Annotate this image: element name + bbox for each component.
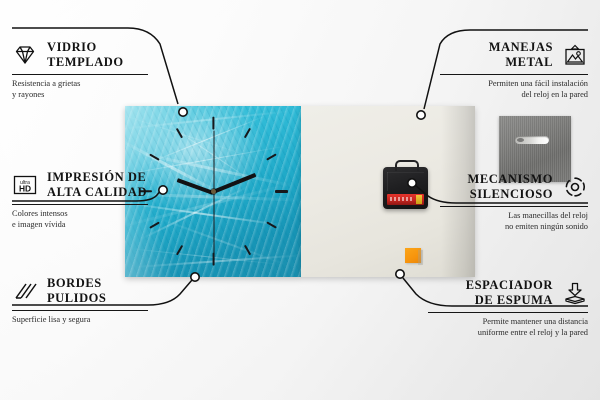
- callout-description: Colores intensos e imagen vívida: [12, 208, 148, 232]
- callout-bordes-pulidos[interactable]: BORDES PULIDOS Superficie lisa y segura: [12, 276, 148, 325]
- callout-title: BORDES PULIDOS: [47, 276, 106, 306]
- diamond-icon: [12, 43, 38, 67]
- callouts-layer: VIDRIO TEMPLADO Resistencia a grietas y …: [0, 0, 600, 400]
- callout-vidrio-templado[interactable]: VIDRIO TEMPLADO Resistencia a grietas y …: [12, 40, 148, 101]
- callout-mecanismo-silencioso[interactable]: MECANISMO SILENCIOSO Las: [440, 172, 588, 233]
- callout-manejas-metal[interactable]: MANEJAS METAL Permiten una fácil instala…: [440, 40, 588, 101]
- callout-description: Superficie lisa y segura: [12, 314, 148, 326]
- polished-edges-icon: [12, 279, 38, 303]
- callout-impresion-alta-calidad[interactable]: ultra HD IMPRESIÓN DE ALTA CALIDAD Color…: [12, 170, 148, 231]
- callout-description: Resistencia a grietas y rayones: [12, 78, 148, 102]
- ultra-hd-icon: ultra HD: [12, 173, 38, 197]
- callout-espaciador-espuma[interactable]: ESPACIADOR DE ESPUMA Permite mantener un…: [428, 278, 588, 339]
- callout-description: Las manecillas del reloj no emiten ningú…: [440, 210, 588, 234]
- wall-frame-hook-icon: [562, 43, 588, 67]
- callout-description: Permiten una fácil instalación del reloj…: [440, 78, 588, 102]
- callout-rule: [12, 310, 148, 311]
- callout-title: MECANISMO SILENCIOSO: [467, 172, 553, 202]
- callout-rule: [440, 74, 588, 75]
- svg-text:HD: HD: [19, 183, 31, 193]
- callout-description: Permite mantener una distancia uniforme …: [428, 316, 588, 340]
- callout-rule: [12, 204, 148, 205]
- callout-rule: [440, 206, 588, 207]
- callout-title: VIDRIO TEMPLADO: [47, 40, 124, 70]
- gear-icon: [562, 175, 588, 199]
- down-arrow-pad-icon: [562, 281, 588, 305]
- callout-rule: [428, 312, 588, 313]
- callout-title: MANEJAS METAL: [489, 40, 553, 70]
- callout-rule: [12, 74, 148, 75]
- callout-title: IMPRESIÓN DE ALTA CALIDAD: [47, 170, 147, 200]
- infographic-canvas: VIDRIO TEMPLADO Resistencia a grietas y …: [0, 0, 600, 400]
- callout-title: ESPACIADOR DE ESPUMA: [466, 278, 553, 308]
